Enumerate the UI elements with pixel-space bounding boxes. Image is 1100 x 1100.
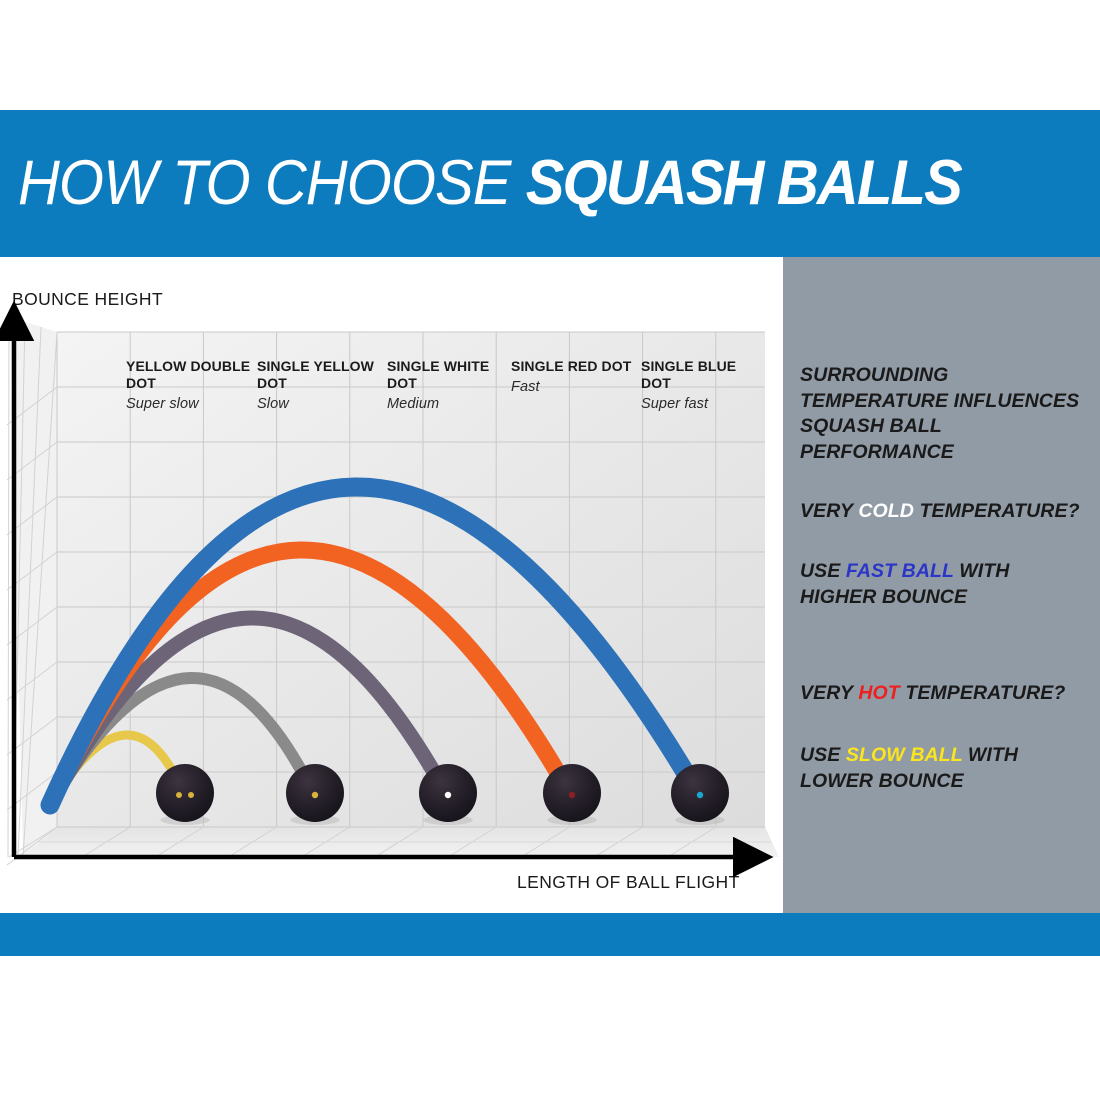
- column-title-2: SINGLE WHITE DOT: [387, 358, 515, 392]
- page-title: HOW TO CHOOSE SQUASH BALLS: [18, 152, 961, 215]
- sidebar-text-cold-question-part-1: COLD: [858, 500, 914, 522]
- column-speed-4: Super fast: [641, 396, 769, 412]
- chart-area: BOUNCE HEIGHT LENGTH OF BALL FLIGHT YELL…: [0, 257, 783, 913]
- title-light-part: HOW TO CHOOSE: [18, 148, 511, 218]
- sidebar-text-intro-part-0: SURROUNDING TEMPERATURE INFLUENCES SQUAS…: [800, 364, 1079, 463]
- bounce-trajectory-chart: [0, 257, 783, 913]
- bottom-accent-bar: [0, 913, 1100, 956]
- column-speed-2: Medium: [387, 396, 515, 412]
- squash-ball-0: [156, 764, 214, 822]
- grid-line-depth-3: [8, 317, 9, 857]
- column-header-0: YELLOW DOUBLE DOTSuper slow: [126, 358, 254, 412]
- title-banner: HOW TO CHOOSE SQUASH BALLS: [0, 110, 1100, 257]
- column-title-4: SINGLE BLUE DOT: [641, 358, 769, 392]
- sidebar-text-hot-answer-part-0: USE: [800, 744, 846, 766]
- column-speed-1: Slow: [257, 396, 385, 412]
- sidebar-text-cold-answer-part-0: USE: [800, 560, 846, 582]
- title-bold-part: SQUASH BALLS: [526, 148, 961, 218]
- column-header-2: SINGLE WHITE DOTMedium: [387, 358, 515, 412]
- ball-dot-0-b: [188, 792, 194, 798]
- sidebar-text-cold-answer-part-1: FAST BALL: [846, 560, 954, 582]
- sidebar-text-hot-question-part-1: HOT: [858, 682, 899, 704]
- ball-dot-4: [697, 792, 703, 798]
- column-title-1: SINGLE YELLOW DOT: [257, 358, 385, 392]
- column-header-3: SINGLE RED DOTFast: [511, 358, 639, 395]
- sidebar-text-hot-question-part-2: TEMPERATURE?: [900, 682, 1066, 704]
- column-header-4: SINGLE BLUE DOTSuper fast: [641, 358, 769, 412]
- sidebar-text-cold-question: VERY COLD TEMPERATURE?: [800, 499, 1090, 525]
- sidebar-text-hot-question: VERY HOT TEMPERATURE?: [800, 681, 1090, 707]
- column-speed-0: Super slow: [126, 396, 254, 412]
- ball-dot-2: [445, 792, 451, 798]
- chart-left-panel: [10, 317, 57, 857]
- sidebar-text-hot-answer: USE SLOW BALL WITH LOWER BOUNCE: [800, 743, 1090, 794]
- temperature-advice-sidebar: SURROUNDING TEMPERATURE INFLUENCES SQUAS…: [783, 257, 1100, 913]
- column-header-1: SINGLE YELLOW DOTSlow: [257, 358, 385, 412]
- ball-dot-3: [569, 792, 575, 798]
- sidebar-text-cold-question-part-0: VERY: [800, 500, 858, 522]
- sidebar-text-intro: SURROUNDING TEMPERATURE INFLUENCES SQUAS…: [800, 363, 1090, 465]
- sidebar-text-cold-answer: USE FAST BALL WITH HIGHER BOUNCE: [800, 559, 1090, 610]
- sidebar-text-hot-answer-part-1: SLOW BALL: [846, 744, 962, 766]
- sidebar-text-hot-question-part-0: VERY: [800, 682, 858, 704]
- column-title-3: SINGLE RED DOT: [511, 358, 639, 375]
- column-speed-3: Fast: [511, 379, 639, 395]
- column-title-0: YELLOW DOUBLE DOT: [126, 358, 254, 392]
- ball-dot-1: [312, 792, 318, 798]
- ball-dot-0-a: [176, 792, 182, 798]
- sidebar-text-cold-question-part-2: TEMPERATURE?: [914, 500, 1080, 522]
